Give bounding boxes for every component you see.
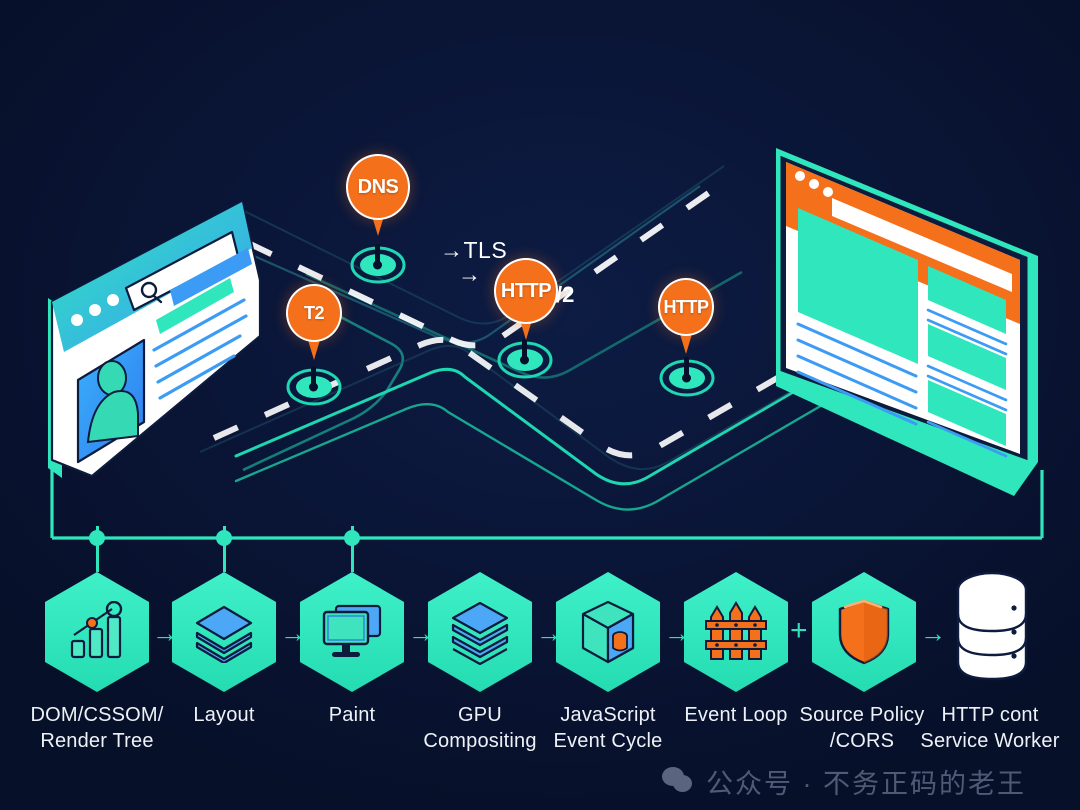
server-window-dot-1 (795, 171, 805, 181)
server-browser-window[interactable] (762, 128, 1062, 533)
avatar-head (98, 361, 126, 395)
caption-js-line2: Event Cycle (518, 728, 698, 754)
pipeline-step-service-worker[interactable] (940, 560, 1044, 705)
server-window-dot-2 (809, 179, 819, 189)
pin-t2-label: T2 (304, 303, 324, 324)
hex-source-policy (812, 572, 916, 692)
pin-http2-suffix: /2 (556, 282, 574, 308)
gpu-layers-icon (447, 599, 513, 665)
caption-service-worker-line1: HTTP cont (898, 702, 1080, 728)
database-icon (954, 570, 1030, 688)
bus-dot-layout (216, 530, 232, 546)
road-edge-bright-2 (236, 404, 824, 510)
pin-http[interactable]: HTTP (658, 278, 714, 352)
client-window-dot-2 (89, 304, 101, 316)
infographic-canvas: DNS T2 HTTP /2 HTTP →TLS → (0, 0, 1080, 810)
pipeline-step-event-loop[interactable] (684, 560, 788, 705)
pin-dns-bulb: DNS (346, 154, 410, 220)
hex-paint (300, 572, 404, 692)
bus-dot-dom-cssom (89, 530, 105, 546)
tls-annotation: →TLS → (440, 238, 507, 286)
layers-icon (191, 601, 257, 663)
caption-dom-cssom-line2: Render Tree (7, 728, 187, 754)
shield-icon (835, 598, 893, 666)
caption-service-worker-line2: Service Worker (898, 728, 1080, 754)
client-browser-window[interactable] (30, 160, 280, 495)
waypoint-dns (352, 244, 404, 282)
pin-dns-label: DNS (358, 176, 399, 199)
pin-http2-label: HTTP (501, 280, 551, 303)
wechat-icon (662, 767, 696, 797)
bar-chart-icon (66, 601, 128, 663)
server-window-dot-3 (823, 187, 833, 197)
pin-http-bulb: HTTP (658, 278, 714, 336)
waypoint-http2 (499, 339, 551, 377)
separator-6: + (790, 616, 808, 646)
caption-service-worker: HTTP cont Service Worker (898, 702, 1080, 754)
pipeline-step-layout[interactable] (172, 560, 276, 705)
pin-t2[interactable]: T2 (286, 284, 342, 358)
pin-t2-bulb: T2 (286, 284, 342, 342)
hex-gpu-compositing (428, 572, 532, 692)
pin-http-label: HTTP (664, 297, 709, 318)
pipeline-step-dom-cssom[interactable] (45, 560, 149, 705)
monitor-icon (320, 602, 384, 662)
pipeline-step-gpu-compositing[interactable] (428, 560, 532, 705)
pipeline-step-javascript[interactable] (556, 560, 660, 705)
hex-event-loop (684, 572, 788, 692)
waypoint-t2 (288, 366, 340, 404)
road-edge-bright (236, 369, 812, 484)
render-pipeline: → → (0, 560, 1080, 705)
cube-box-icon (577, 598, 639, 666)
hex-dom-cssom (45, 572, 149, 692)
hex-layout (172, 572, 276, 692)
bus-dot-paint (344, 530, 360, 546)
tls-annotation-line1: →TLS (440, 237, 507, 263)
tls-annotation-line2: → (458, 262, 507, 286)
watermark: 公众号 · 不务正码的老王 (662, 762, 1026, 801)
fence-icon (703, 601, 769, 663)
waypoint-http (661, 357, 713, 395)
pin-dns[interactable]: DNS (346, 154, 410, 238)
client-window-dot-3 (107, 294, 119, 306)
pipeline-step-source-policy[interactable] (812, 560, 916, 705)
road-outer-guide-2 (200, 346, 860, 469)
watermark-text: 公众号 · 不务正码的老王 (706, 762, 1026, 801)
pipeline-step-paint[interactable] (300, 560, 404, 705)
client-window-dot-1 (71, 314, 83, 326)
hex-javascript (556, 572, 660, 692)
